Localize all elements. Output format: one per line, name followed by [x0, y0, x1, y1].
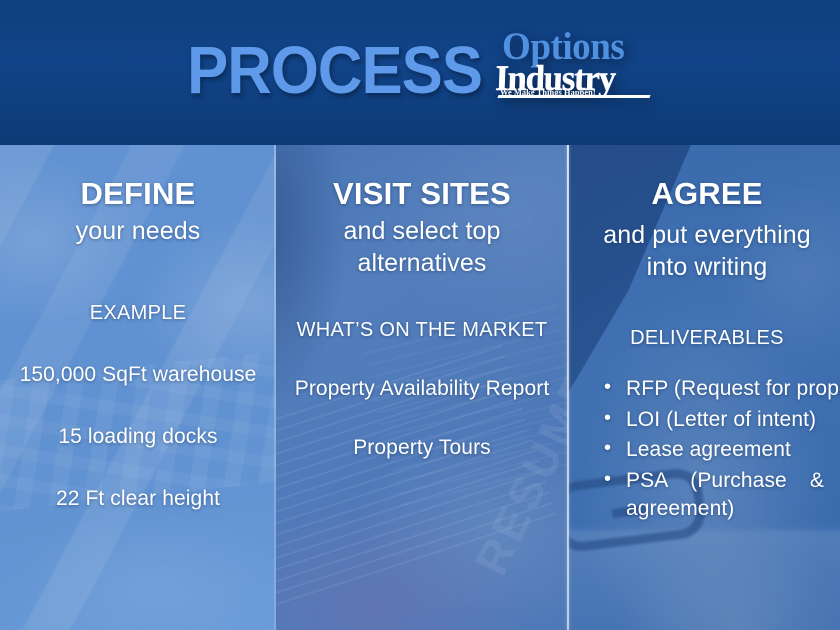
column-3-subtitle: and put everything into writing	[582, 220, 832, 283]
column-2-detail-item: Property Tours	[292, 434, 552, 461]
column-3-kicker: DELIVERABLES	[582, 325, 832, 351]
column-1-detail-item: 150,000 SqFt warehouse	[6, 361, 270, 388]
column-1-detail-item: 15 loading docks	[6, 423, 270, 450]
column-2-kicker: WHAT’S ON THE MARKET	[292, 317, 552, 343]
deliverable-item: Lease agreement	[600, 436, 840, 464]
column-3-title: AGREE	[582, 177, 832, 210]
header-inner: PROCESS Options Industry We Make Things …	[0, 0, 840, 145]
column-define: DEFINE your needs EXAMPLE 150,000 SqFt w…	[0, 145, 276, 630]
column-2-detail-list: Property Availability Report Property To…	[292, 375, 552, 462]
logo-tagline: We Make Things Happen!	[500, 87, 596, 97]
column-2-title: VISIT SITES	[292, 177, 552, 210]
page-title: PROCESS	[187, 37, 488, 104]
column-1-detail-item: 22 Ft clear height	[6, 485, 270, 512]
deliverable-item: RFP (Request for proposal)	[600, 375, 840, 403]
column-2-detail-item: Property Availability Report	[292, 375, 552, 402]
deliverables-list: RFP (Request for proposal) LOI (Letter o…	[582, 375, 832, 523]
column-1-subtitle: your needs	[6, 216, 270, 247]
slide-body: RESUME DEFINE your needs EXAMPLE 150,000…	[0, 145, 840, 630]
slide-header: PROCESS Options Industry We Make Things …	[0, 0, 840, 145]
column-visit-sites: VISIT SITES and select top alternatives …	[276, 145, 568, 630]
options-industry-logo: Options Industry We Make Things Happen!	[496, 27, 666, 113]
column-1-kicker: EXAMPLE	[6, 300, 270, 326]
column-1-title: DEFINE	[6, 177, 270, 210]
column-agree: AGREE and put everything into writing DE…	[568, 145, 840, 630]
column-1-detail-list: 150,000 SqFt warehouse 15 loading docks …	[6, 361, 270, 513]
column-2-subtitle: and select top alternatives	[292, 216, 552, 279]
slide-root: PROCESS Options Industry We Make Things …	[0, 0, 840, 630]
deliverable-item: PSA (Purchase & sale agreement)	[600, 467, 840, 522]
deliverable-item: LOI (Letter of intent)	[600, 406, 840, 434]
